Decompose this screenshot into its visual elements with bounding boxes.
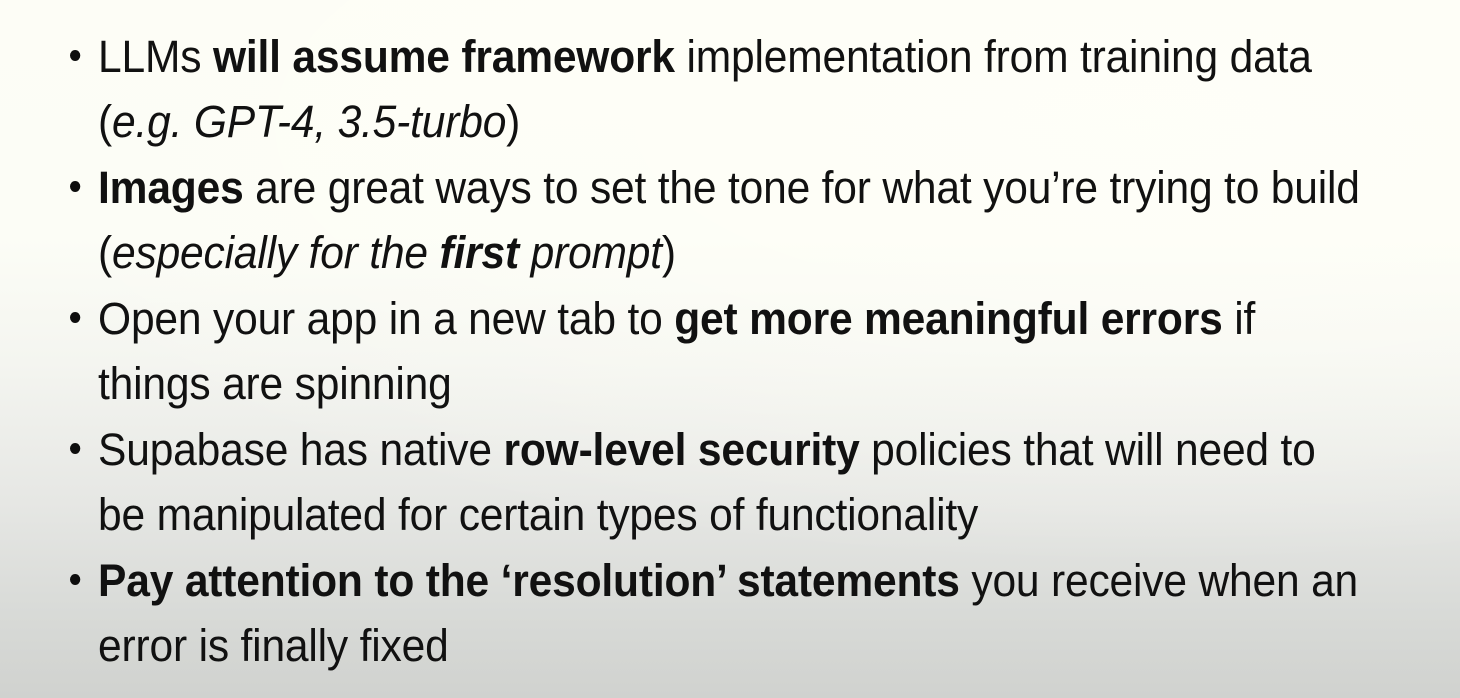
emphasis-bold: Images <box>98 162 243 213</box>
emphasis-bold: will assume framework <box>213 31 675 82</box>
emphasis-italic: especially for the <box>112 227 440 278</box>
bullet-resolution-statements: Pay attention to the ‘resolution’ statem… <box>70 548 1360 678</box>
bullet-point-icon <box>70 181 80 192</box>
bullet-point-icon <box>70 443 80 454</box>
bullet-text: LLMs will assume framework implementatio… <box>98 24 1360 154</box>
bullet-point-icon <box>70 312 80 323</box>
bullet-text: Open your app in a new tab to get more m… <box>98 286 1360 416</box>
bullet-point-icon <box>70 50 80 61</box>
bullet-supabase-rls: Supabase has native row-level security p… <box>70 417 1360 547</box>
bullet-text: Pay attention to the ‘resolution’ statem… <box>98 548 1360 678</box>
bullet-list: LLMs will assume framework implementatio… <box>0 0 1460 678</box>
bullet-llm-framework: LLMs will assume framework implementatio… <box>70 24 1360 154</box>
bullet-point-icon <box>70 574 80 585</box>
emphasis-bold: get more meaningful errors <box>674 293 1222 344</box>
bullet-text: Images are great ways to set the tone fo… <box>98 155 1360 285</box>
bullet-text: Supabase has native row-level security p… <box>98 417 1360 547</box>
bullet-images-tone: Images are great ways to set the tone fo… <box>70 155 1360 285</box>
emphasis-italic: first <box>440 227 519 278</box>
emphasis-bold: first <box>440 227 519 278</box>
bullet-new-tab-errors: Open your app in a new tab to get more m… <box>70 286 1360 416</box>
emphasis-italic: e.g. GPT-4, 3.5-turbo <box>112 96 506 147</box>
emphasis-bold: row-level security <box>504 424 860 475</box>
emphasis-bold: Pay attention to the ‘resolution’ statem… <box>98 555 960 606</box>
slide-canvas: LLMs will assume framework implementatio… <box>0 0 1460 698</box>
emphasis-italic: prompt <box>519 227 662 278</box>
